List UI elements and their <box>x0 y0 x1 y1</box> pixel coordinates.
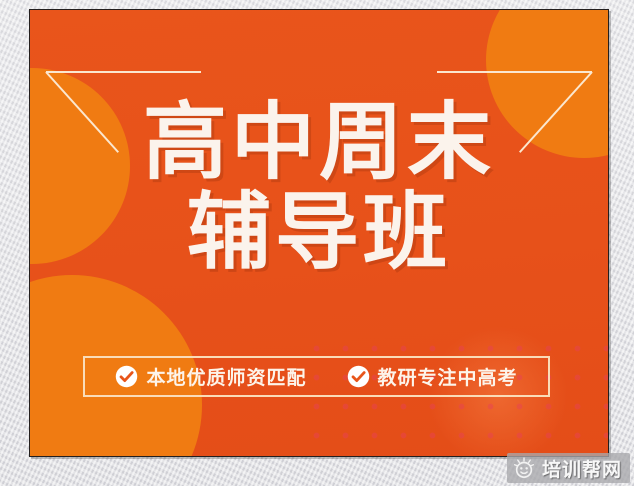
promo-poster: 高中周末 辅导班 本地优质师资匹配 教研专注中高考 <box>29 9 609 457</box>
poster-headline: 高中周末 辅导班 <box>30 98 608 278</box>
feature-badge-1-label: 本地优质师资匹配 <box>146 363 306 390</box>
watermark-text: 培训帮网 <box>542 455 622 482</box>
page-backdrop: 高中周末 辅导班 本地优质师资匹配 教研专注中高考 <box>0 0 634 486</box>
sun-smiley-logo-icon <box>513 457 535 479</box>
check-circle-icon <box>115 365 138 388</box>
feature-badge-1: 本地优质师资匹配 <box>115 363 306 390</box>
feature-badge-2: 教研专注中高考 <box>347 363 518 390</box>
chevron-line-right-horizontal <box>437 71 592 73</box>
headline-line-2: 辅导班 <box>30 188 608 278</box>
headline-line-1: 高中周末 <box>30 98 608 188</box>
feature-badge-2-label: 教研专注中高考 <box>378 363 518 390</box>
site-watermark: 培训帮网 <box>507 453 630 483</box>
chevron-line-left-horizontal <box>46 71 201 73</box>
feature-badge-bar: 本地优质师资匹配 教研专注中高考 <box>83 356 550 397</box>
check-circle-icon <box>347 365 370 388</box>
